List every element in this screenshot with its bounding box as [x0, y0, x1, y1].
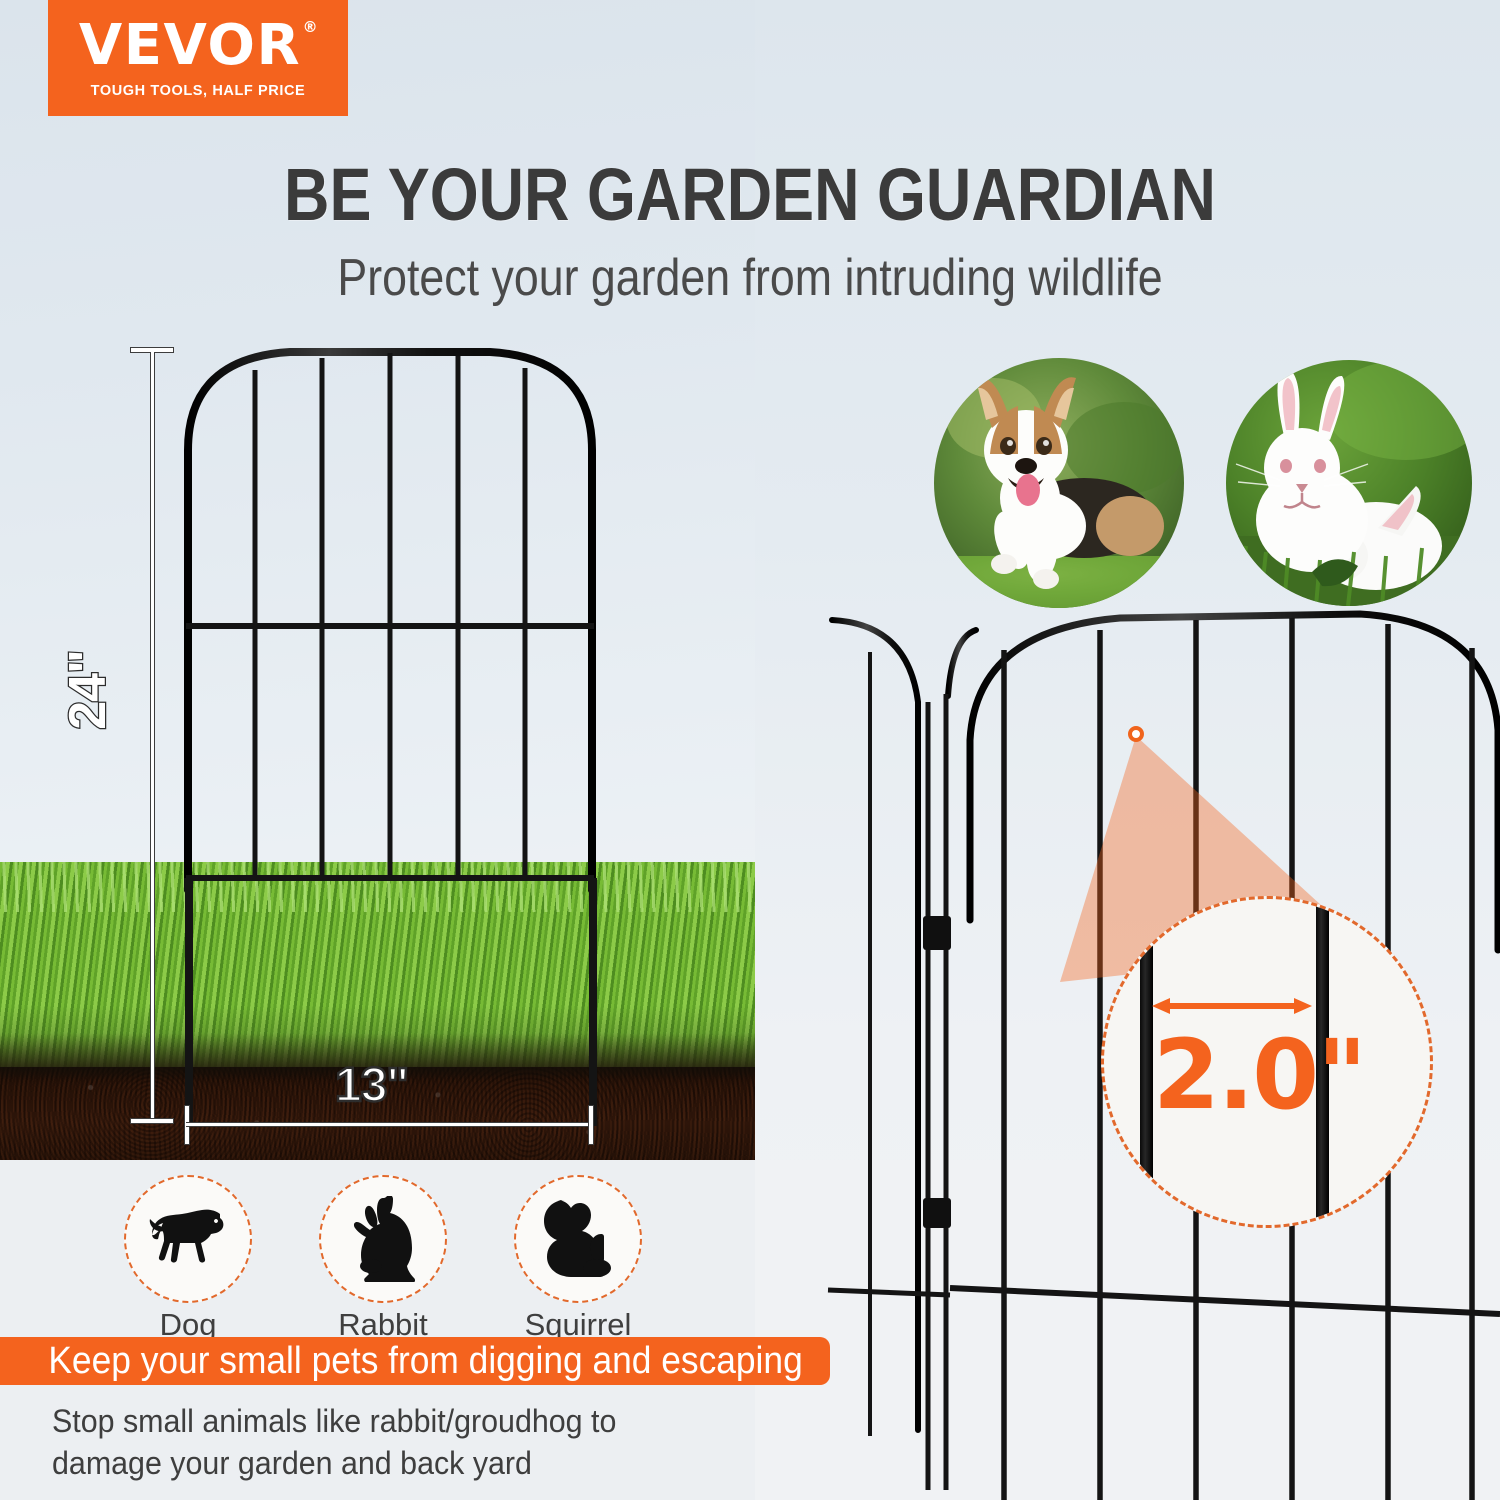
logo-wordmark: VEVOR ®: [79, 18, 317, 74]
vevor-logo: VEVOR ® TOUGH TOOLS, HALF PRICE: [48, 0, 348, 116]
callout-marker-icon: [1128, 726, 1144, 742]
page-subtitle: Protect your garden from intruding wildl…: [105, 248, 1395, 308]
feature-banner: Keep your small pets from digging and es…: [0, 1337, 830, 1385]
registered-mark-icon: ®: [303, 20, 320, 35]
width-dimension-cap-right: [588, 1105, 594, 1145]
footnote-text: Stop small animals like rabbit/groudhog …: [52, 1400, 717, 1484]
product-infographic: VEVOR ® TOUGH TOOLS, HALF PRICE BE YOUR …: [0, 0, 1500, 1500]
gap-arrow-icon: [1152, 995, 1312, 1017]
gap-magnifier-callout: 2.0": [1101, 896, 1433, 1228]
feature-banner-text: Keep your small pets from digging and es…: [0, 1340, 803, 1383]
animal-icons-row: Dog Rabbit Squirrel: [118, 1175, 678, 1335]
height-dimension-label: 24": [58, 650, 118, 730]
logo-tagline: TOUGH TOOLS, HALF PRICE: [91, 83, 306, 99]
gap-dimension-label: 2.0": [1104, 1019, 1433, 1131]
width-dimension-line: [186, 1122, 592, 1127]
width-dimension-label: 13": [335, 1058, 408, 1113]
animal-badge-rabbit: [319, 1175, 447, 1303]
height-dimension-line: [150, 352, 155, 1124]
logo-word-text: VEVOR: [79, 13, 301, 78]
dog-photo: [934, 358, 1184, 608]
page-title: BE YOUR GARDEN GUARDIAN: [113, 152, 1388, 237]
animal-badge-squirrel: [514, 1175, 642, 1303]
fence-panel-front-view: [0, 330, 760, 1160]
rabbit-icon: [343, 1196, 423, 1282]
squirrel-icon: [535, 1196, 621, 1282]
rabbit-photo: [1226, 360, 1472, 606]
dog-icon: [142, 1200, 234, 1278]
animal-badge-dog: [124, 1175, 252, 1303]
height-dimension-cap-bottom: [130, 1118, 174, 1124]
